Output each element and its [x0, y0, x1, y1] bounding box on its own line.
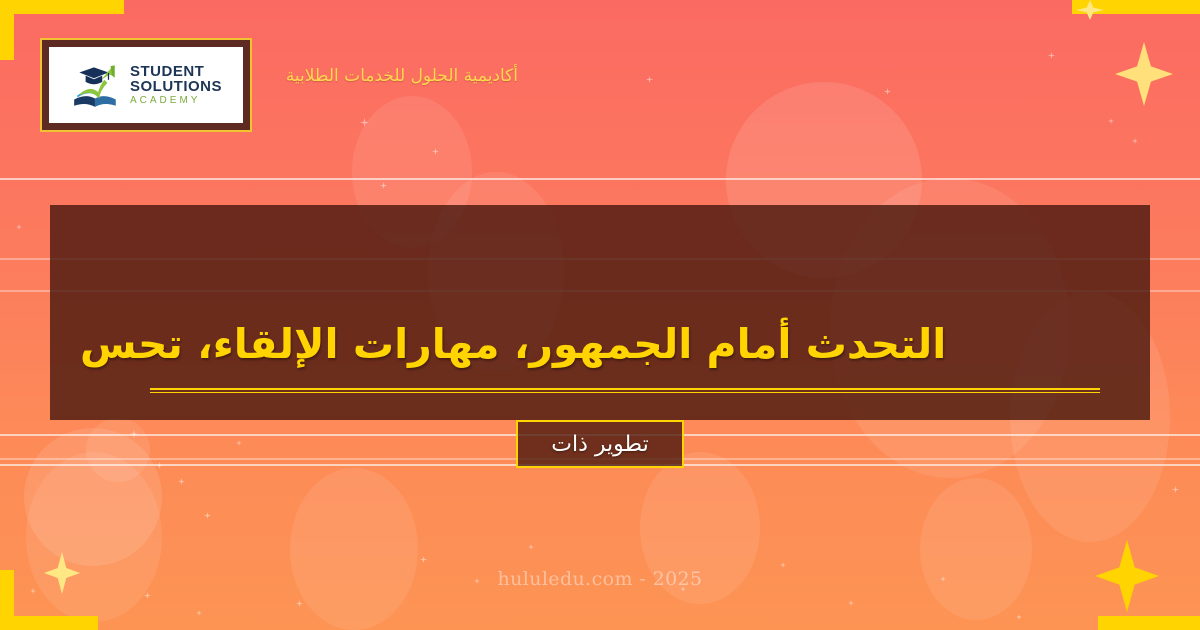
- micro-sparkle-icon: [528, 544, 534, 550]
- category-badge: تطوير ذات: [516, 420, 684, 468]
- micro-sparkle-icon: [1172, 486, 1179, 493]
- bg-circle: [26, 452, 162, 622]
- micro-sparkle-icon: [420, 556, 427, 563]
- footer-credit: hululedu.com - 2025: [0, 568, 1200, 590]
- micro-sparkle-icon: [1132, 138, 1138, 144]
- micro-sparkle-icon: [178, 478, 185, 485]
- page-title: التحدث أمام الجمهور، مهارات الإلقاء، تحس: [50, 205, 1150, 373]
- micro-sparkle-icon: [848, 600, 854, 606]
- micro-sparkle-icon: [296, 600, 303, 607]
- micro-sparkle-icon: [1016, 614, 1022, 620]
- corner-bracket-top-left: [0, 0, 124, 14]
- title-underline: [150, 388, 1100, 393]
- poster-canvas: STUDENT SOLUTIONS ACADEMY أكاديمية الحلو…: [0, 0, 1200, 630]
- micro-sparkle-icon: [646, 76, 653, 83]
- logo-text-line3: ACADEMY: [130, 96, 222, 106]
- micro-sparkle-icon: [1048, 52, 1055, 59]
- micro-sparkle-icon: [236, 440, 242, 446]
- micro-sparkle-icon: [204, 512, 211, 519]
- corner-bracket-top-left: [0, 0, 14, 60]
- bg-circle: [86, 418, 150, 482]
- organization-name: أكاديمية الحلول للخدمات الطلابية: [258, 66, 518, 86]
- streak-line: [0, 178, 1200, 180]
- brand-logo: STUDENT SOLUTIONS ACADEMY: [40, 38, 252, 132]
- hero-title-card: التحدث أمام الجمهور، مهارات الإلقاء، تحس: [50, 205, 1150, 420]
- corner-bracket-bottom-right: [1098, 616, 1200, 630]
- logo-text-line2: SOLUTIONS: [130, 79, 222, 94]
- sparkle-icon: [1115, 42, 1173, 106]
- bg-circle: [920, 478, 1032, 620]
- corner-bracket-bottom-left: [0, 616, 98, 630]
- micro-sparkle-icon: [1108, 118, 1114, 124]
- micro-sparkle-icon: [196, 610, 202, 616]
- micro-sparkle-icon: [16, 224, 22, 230]
- sparkle-icon: [1076, 0, 1104, 20]
- micro-sparkle-icon: [884, 88, 891, 95]
- bg-circle: [290, 468, 418, 630]
- logo-text-line1: STUDENT: [130, 64, 222, 79]
- graduation-cap-growth-arrow-book-icon: [70, 59, 122, 111]
